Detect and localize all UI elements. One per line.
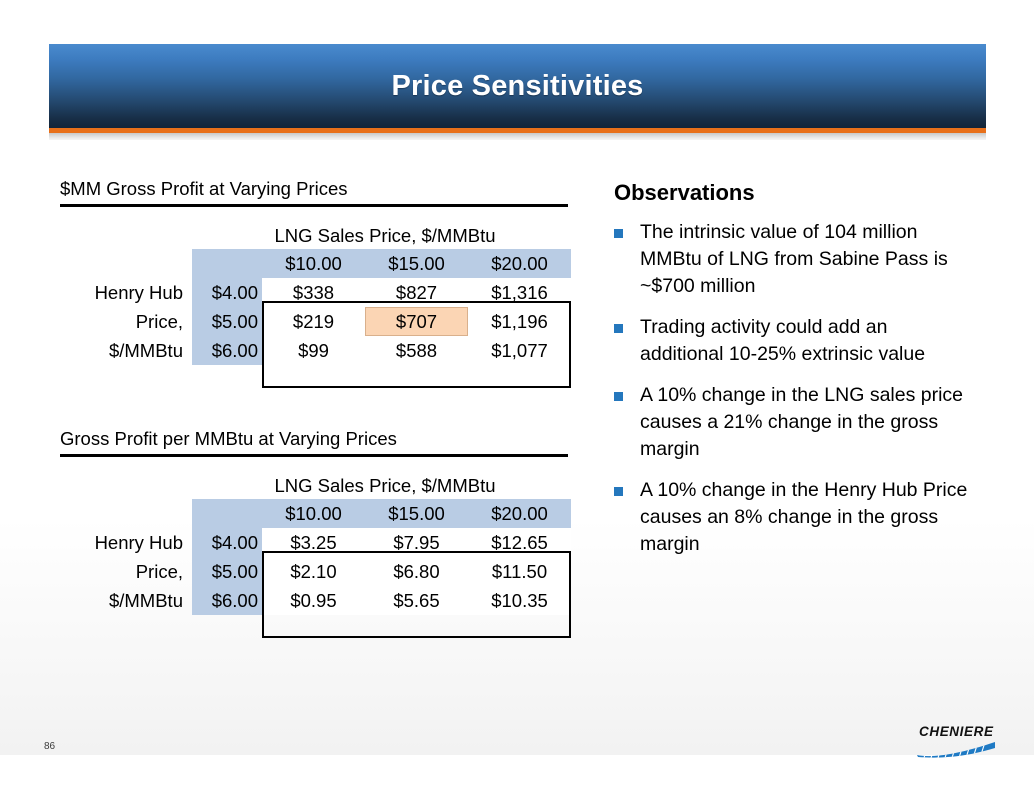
row-axis-label-line: Henry Hub: [60, 278, 192, 307]
list-item-text: A 10% change in the Henry Hub Price caus…: [640, 479, 967, 555]
gross-profit-table-section: $MM Gross Profit at Varying Prices LNG S…: [60, 178, 580, 365]
table-corner-fill: [192, 249, 262, 278]
data-cell: $2.10: [262, 557, 365, 586]
logo-wordmark: CHENIERE: [919, 724, 994, 739]
observations-panel: Observations The intrinsic value of 104 …: [614, 180, 972, 572]
row-axis-label-line: Henry Hub: [60, 528, 192, 557]
table-row: $/MMBtu $6.00 $99 $588 $1,077: [60, 336, 571, 365]
section-rule: [60, 454, 568, 457]
square-bullet-icon: [614, 392, 623, 401]
row-header: $5.00: [192, 307, 262, 336]
data-cell: $0.95: [262, 586, 365, 615]
table-row: $/MMBtu $6.00 $0.95 $5.65 $10.35: [60, 586, 571, 615]
data-cell: $1,196: [468, 307, 571, 336]
observations-list: The intrinsic value of 104 million MMBtu…: [614, 219, 972, 558]
table-row: Price, $5.00 $2.10 $6.80 $11.50: [60, 557, 571, 586]
slide: Price Sensitivities $MM Gross Profit at …: [0, 0, 1034, 799]
table-row: Henry Hub $4.00 $338 $827 $1,316: [60, 278, 571, 307]
row-axis-label-line: $/MMBtu: [60, 336, 192, 365]
table-corner-blank: [60, 249, 192, 278]
data-cell: $5.65: [365, 586, 468, 615]
data-cell: $99: [262, 336, 365, 365]
page-title: Price Sensitivities: [391, 70, 643, 103]
table-header-row: $10.00 $15.00 $20.00: [60, 499, 571, 528]
list-item-text: A 10% change in the LNG sales price caus…: [640, 384, 963, 460]
data-cell: $1,077: [468, 336, 571, 365]
list-item: A 10% change in the LNG sales price caus…: [614, 382, 972, 463]
column-header: $20.00: [468, 249, 571, 278]
table-caption-lng-sales-price: LNG Sales Price, $/MMBtu: [60, 225, 580, 247]
list-item: Trading activity could add an additional…: [614, 314, 972, 368]
table-row: Henry Hub $4.00 $3.25 $7.95 $12.65: [60, 528, 571, 557]
list-item: The intrinsic value of 104 million MMBtu…: [614, 219, 972, 300]
row-header: $6.00: [192, 336, 262, 365]
section-heading-gross-profit-per-mmbtu: Gross Profit per MMBtu at Varying Prices: [60, 428, 580, 453]
section-rule: [60, 204, 568, 207]
table-row: Price, $5.00 $219 $707 $1,196: [60, 307, 571, 336]
cheniere-logo: CHENIERE: [917, 724, 995, 758]
table-header-row: $10.00 $15.00 $20.00: [60, 249, 571, 278]
title-banner: Price Sensitivities: [49, 44, 986, 128]
data-cell: $12.65: [468, 528, 571, 557]
data-cell: $11.50: [468, 557, 571, 586]
data-cell: $219: [262, 307, 365, 336]
page-number: 86: [44, 741, 55, 752]
column-header: $15.00: [365, 249, 468, 278]
row-axis-label-line: Price,: [60, 557, 192, 586]
column-header: $10.00: [262, 249, 365, 278]
table-corner-blank: [60, 499, 192, 528]
row-header: $4.00: [192, 528, 262, 557]
table-corner-fill: [192, 499, 262, 528]
list-item-text: Trading activity could add an additional…: [640, 316, 925, 365]
data-cell: $3.25: [262, 528, 365, 557]
data-cell: $338: [262, 278, 365, 307]
row-header: $4.00: [192, 278, 262, 307]
column-header: $10.00: [262, 499, 365, 528]
gross-profit-per-mmbtu-matrix: $10.00 $15.00 $20.00 Henry Hub $4.00 $3.…: [60, 499, 571, 615]
data-cell: $10.35: [468, 586, 571, 615]
slide-bottom-margin: [0, 755, 1034, 799]
list-item-text: The intrinsic value of 104 million MMBtu…: [640, 221, 948, 297]
column-header: $15.00: [365, 499, 468, 528]
column-header: $20.00: [468, 499, 571, 528]
row-header: $6.00: [192, 586, 262, 615]
square-bullet-icon: [614, 487, 623, 496]
row-axis-label-line: $/MMBtu: [60, 586, 192, 615]
data-cell: $827: [365, 278, 468, 307]
gross-profit-matrix: $10.00 $15.00 $20.00 Henry Hub $4.00 $33…: [60, 249, 571, 365]
data-cell-highlighted: $707: [365, 307, 468, 336]
data-cell: $6.80: [365, 557, 468, 586]
row-header: $5.00: [192, 557, 262, 586]
title-shadow-rule: [49, 133, 986, 140]
data-cell: $588: [365, 336, 468, 365]
table-caption-lng-sales-price: LNG Sales Price, $/MMBtu: [60, 475, 580, 497]
title-banner-inner: Price Sensitivities: [49, 44, 986, 128]
section-heading-gross-profit: $MM Gross Profit at Varying Prices: [60, 178, 580, 203]
data-cell: $7.95: [365, 528, 468, 557]
observations-title: Observations: [614, 180, 972, 206]
swoosh-icon: [917, 741, 995, 758]
list-item: A 10% change in the Henry Hub Price caus…: [614, 477, 972, 558]
data-cell: $1,316: [468, 278, 571, 307]
square-bullet-icon: [614, 324, 623, 333]
row-axis-label-line: Price,: [60, 307, 192, 336]
square-bullet-icon: [614, 229, 623, 238]
gross-profit-per-mmbtu-table-section: Gross Profit per MMBtu at Varying Prices…: [60, 428, 580, 615]
